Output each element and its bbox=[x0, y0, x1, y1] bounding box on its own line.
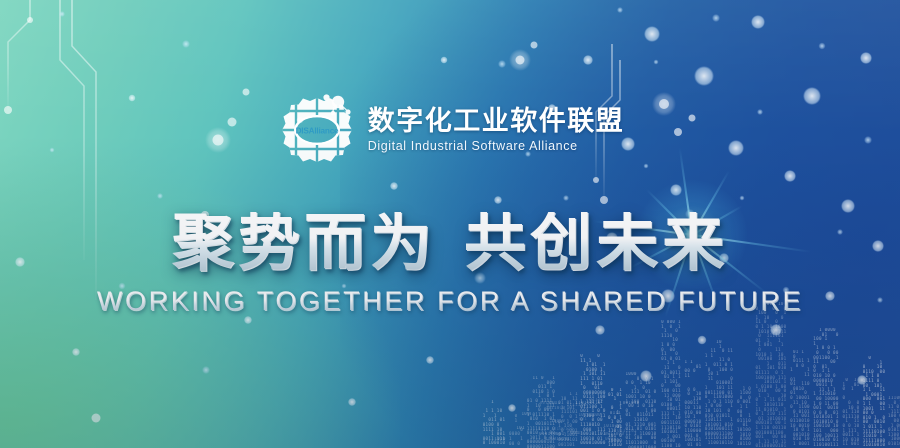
skyline-building: 1 1 10 11 01 01 1 1 101 111101 0 0 1 1 1… bbox=[558, 392, 578, 448]
skyline-code-speck: 101010 bbox=[603, 424, 621, 429]
skyline-code-speck: 111 bbox=[611, 425, 627, 430]
logo-lockup: DISAlliance 数字化工业软件联盟 Digital Industrial… bbox=[0, 92, 900, 168]
skyline-code-speck: 011 bbox=[533, 427, 551, 432]
skyline-code-speck: 10110 bbox=[542, 419, 575, 424]
headline-cn-part1: 聚势而为 bbox=[172, 206, 436, 279]
skyline-building: 1 0000 01 0 100 1 1 1 0 0 1 0 0 00 00110… bbox=[812, 328, 840, 448]
skyline-code-speck: 110110110 bbox=[572, 401, 603, 406]
skyline-code-speck: 0011000 bbox=[601, 432, 627, 437]
skyline-code-speck: 10101100 bbox=[578, 413, 600, 418]
org-name-cn: 数字化工业软件联盟 bbox=[368, 107, 625, 136]
skyline-building: 10 1 11 0 11 1 1 11 0 1 011 0 1 0 100 0 … bbox=[704, 340, 734, 448]
disalliance-gear-logo: DISAlliance bbox=[276, 92, 358, 168]
skyline-code-speck: 0000 bbox=[596, 437, 626, 442]
skyline-building: 11100 0 1 11 0 1111 100 0 00 1 00 01011 … bbox=[888, 396, 900, 448]
skyline-code-speck: 111010101 bbox=[541, 437, 573, 442]
skyline-code-speck: 111 bbox=[571, 431, 581, 436]
skyline-building: 0 1 01 01 1 1 0 1 1 0 0 1 1 00 01 110 1 … bbox=[608, 388, 622, 448]
skyline-code-speck: 01111 bbox=[588, 398, 604, 403]
skyline-building: 0 0 11 1 1 01 1 0100 1 1 101 11 111 1 01… bbox=[580, 354, 606, 448]
headline-chinese: 聚势而为共创未来 bbox=[0, 212, 900, 274]
skyline-code-speck: 0011 bbox=[544, 401, 566, 406]
skyline-building: 1 1 1 10 1 1 011 01 0100 0 1111 10 1 001… bbox=[482, 400, 506, 448]
skyline-code-speck: 101 bbox=[515, 426, 526, 431]
skyline-code-speck: 1111110 bbox=[565, 403, 587, 408]
skyline-code-speck: 010110001 bbox=[537, 432, 566, 437]
skyline-code-speck: 0111101 bbox=[610, 429, 644, 434]
skyline-code-speck: 0111 bbox=[608, 411, 623, 416]
skyline-building: 0 000 1 1 0 1 1 0 1110 10 1 0 0 0 00 11 … bbox=[660, 320, 682, 448]
skyline-code-speck: 00010 bbox=[570, 431, 583, 436]
skyline-building: 1 1 01 00 0 11 0 0 0 10 110 00011 10 110… bbox=[684, 360, 702, 448]
skyline-building: 11 0 1 000 011 1 0110 1 0 1 0 1 01 0 111… bbox=[526, 376, 556, 448]
skyline-code-speck: 111 bbox=[542, 420, 575, 425]
skyline-building: 000 10 0 0 0 100 0 1 1 10 0 11 0 0 0 1 1… bbox=[754, 302, 788, 448]
event-banner: DISAlliance 数字化工业软件联盟 Digital Industrial… bbox=[0, 0, 900, 448]
skyline-code-speck: 001011 bbox=[537, 401, 560, 406]
headline-english: WORKING TOGETHER FOR A SHARED FUTURE bbox=[0, 286, 900, 317]
skyline-code-speck: 1111010 bbox=[542, 406, 569, 411]
skyline-building: 01 1 0 0111 1 0 0 1 1 11 01 01 110 0010 … bbox=[790, 350, 810, 448]
skyline-building: 0 1 1 01 0 1 0 0 0 10 0 01 110 011110 1 … bbox=[842, 378, 860, 448]
skyline-code-speck: 10100110 bbox=[547, 427, 576, 432]
skyline-code-speck: 001 bbox=[570, 417, 596, 422]
skyline-building: 0 1 0 10 0110 00 1 1 0 1111 0 00 101 1 1… bbox=[862, 356, 886, 448]
skyline-code-speck: 100001101 bbox=[521, 412, 530, 417]
logo-text-block: 数字化工业软件联盟 Digital Industrial Software Al… bbox=[368, 107, 625, 153]
skyline-building: 1000 0 0 1 0 0 1 10 1 0 111 01 0 1001 10… bbox=[624, 372, 658, 448]
logo-mark-wordmark: DISAlliance bbox=[295, 126, 338, 135]
headline-block: 聚势而为共创未来 WORKING TOGETHER FOR A SHARED F… bbox=[0, 212, 900, 317]
skyline-building: 1 0 1100 0 0 0 001 1 1 00 0 1 01110 01 1… bbox=[736, 382, 752, 448]
skyline-code-speck: 001010 bbox=[620, 401, 642, 406]
org-name-en: Digital Industrial Software Alliance bbox=[368, 139, 625, 153]
skyline-code-speck: 1010 bbox=[485, 437, 514, 442]
skyline-building: 0 1 0 0000 1 1 00 0 bbox=[508, 414, 524, 448]
headline-cn-part2: 共创未来 bbox=[464, 206, 728, 279]
